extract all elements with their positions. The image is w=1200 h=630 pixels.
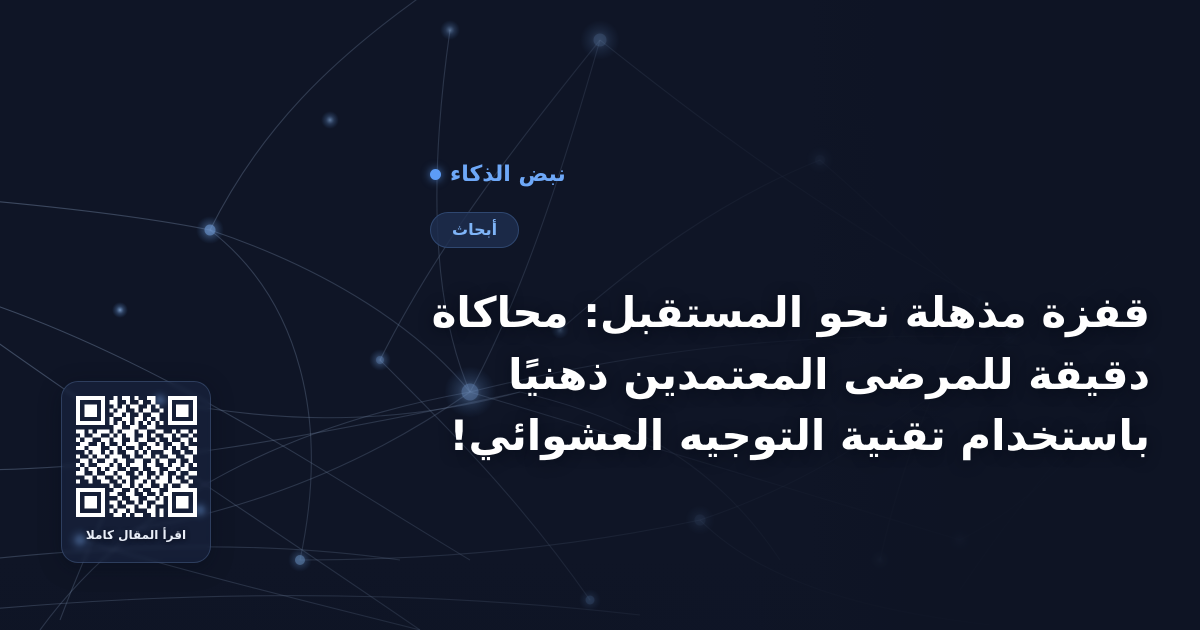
social-share-card: نبض الذكاء أبحاث قفزة مذهلة نحو المستقبل… [0, 0, 1200, 630]
brand-name: نبض الذكاء [450, 164, 566, 186]
brand-dot-icon [430, 169, 441, 180]
brand: نبض الذكاء [430, 164, 566, 186]
qr-card[interactable]: اقرأ المقال كاملا [61, 381, 211, 563]
qr-code-icon [76, 396, 197, 517]
article-title: قفزة مذهلة نحو المستقبل: محاكاة دقيقة لل… [430, 282, 1150, 466]
content-column: نبض الذكاء أبحاث قفزة مذهلة نحو المستقبل… [430, 0, 1150, 630]
qr-caption: اقرأ المقال كاملا [86, 529, 186, 541]
category-badge[interactable]: أبحاث [430, 212, 519, 249]
